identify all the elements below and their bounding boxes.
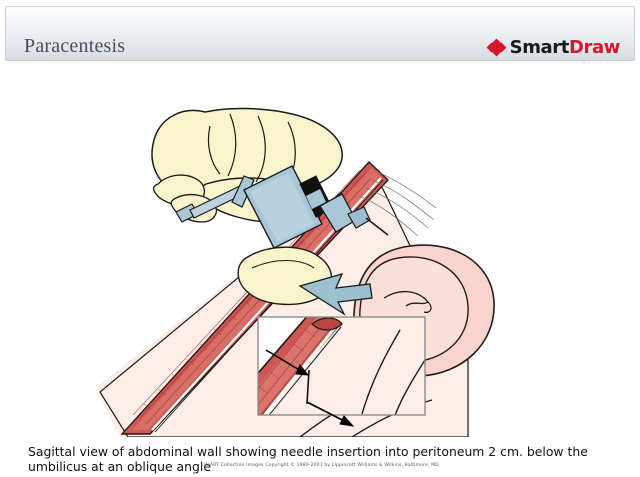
caption-text: Sagittal view of abdominal wall showing … (28, 444, 618, 474)
logo-wordmark: SmartDraw (510, 37, 620, 58)
slide-canvas: Paracentesis SmartDraw (0, 0, 640, 477)
logo-word-smart: Smart (510, 37, 569, 58)
smartdraw-diamond-icon (488, 40, 505, 55)
illustration-body (96, 108, 494, 437)
smartdraw-logo: SmartDraw (488, 37, 620, 58)
slide-header-bar: Paracentesis SmartDraw (5, 6, 635, 61)
medical-illustration (0, 62, 640, 437)
logo-word-draw: Draw (569, 37, 620, 58)
illustration-svg (0, 62, 640, 437)
page-title: Paracentesis (24, 35, 125, 58)
copyright-notice: LifeART Collection Images Copyright © 19… (0, 463, 640, 468)
